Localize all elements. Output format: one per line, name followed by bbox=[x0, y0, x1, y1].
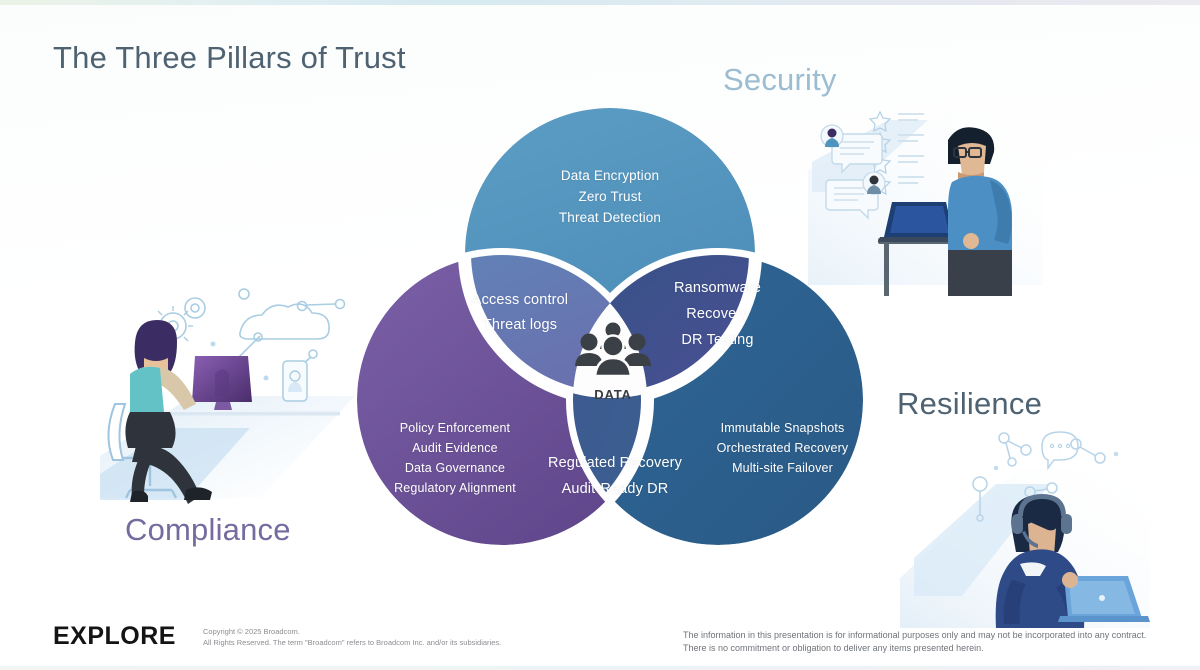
pillar-label-compliance: Compliance bbox=[125, 512, 291, 548]
woman-with-headset-and-laptop-illustration bbox=[900, 428, 1150, 628]
woman-at-desk-with-laptop-illustration bbox=[100, 278, 355, 508]
footer-disclaimer: The information in this presentation is … bbox=[683, 629, 1153, 655]
pillar-label-security: Security bbox=[723, 62, 837, 98]
slide-canvas: The Three Pillars of Trust Security Resi… bbox=[0, 0, 1200, 670]
people-group-icon bbox=[553, 322, 673, 384]
venn-center-data: DATA bbox=[553, 322, 673, 402]
bottom-accent-strip bbox=[0, 666, 1200, 670]
venn-center-label: DATA bbox=[553, 387, 673, 402]
footer-copyright: Copyright © 2025 Broadcom.All Rights Res… bbox=[203, 627, 603, 648]
explore-logo: EXPLORE bbox=[53, 622, 176, 651]
page-title: The Three Pillars of Trust bbox=[53, 40, 406, 76]
top-accent-strip bbox=[0, 0, 1200, 5]
pillar-label-resilience: Resilience bbox=[897, 386, 1042, 422]
